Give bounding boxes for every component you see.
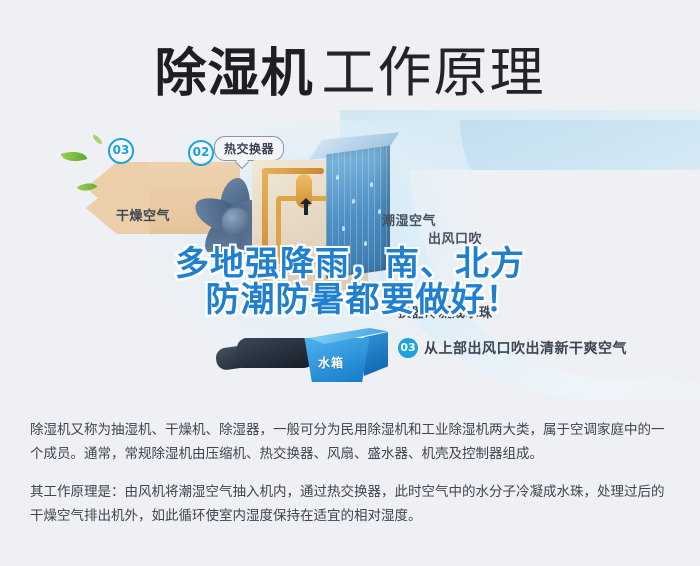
heat-exchanger-callout: 热交换器	[214, 136, 284, 161]
diagram-illustration: 干燥空气 03 02 01 热交换器	[0, 110, 700, 400]
page-title: 除湿机工作原理	[0, 28, 700, 107]
badge-02: 02	[188, 140, 214, 166]
leaf-icon	[91, 134, 104, 144]
air-outlet-label: 出风口吹	[428, 228, 482, 247]
article-body: 除湿机又称为抽湿机、干燥机、除湿器，一般可分为民用除湿机和工业除湿机两大类，属于…	[30, 418, 670, 528]
step-03-row: 03 从上部出风口吹出清新干爽空气	[398, 338, 627, 358]
body-paragraph-1: 除湿机又称为抽湿机、干燥机、除湿器，一般可分为民用除湿机和工业除湿机两大类，属于…	[30, 418, 670, 466]
condensation-label: 换器冷凝成水珠	[398, 302, 493, 321]
page-root: 除湿机工作原理 干燥空气 03 02 01 热交换器	[0, 0, 700, 566]
airflow-arrow-up	[300, 202, 313, 215]
water-tank-label: 水箱	[318, 354, 344, 371]
step-03-badge: 03	[398, 338, 418, 358]
leaf-icon	[61, 147, 88, 167]
compressor-pipe	[262, 168, 324, 174]
badge-03: 03	[108, 138, 134, 164]
water-tank: 水箱	[300, 328, 388, 382]
title-part-light: 工作原理	[322, 43, 546, 103]
body-paragraph-2: 其工作原理是：由风机将潮湿空气抽入机内，通过热交换器，此时空气中的水分子冷凝成水…	[30, 480, 670, 528]
heat-exchanger-block	[326, 146, 390, 279]
humid-air-label: 潮湿空气	[382, 210, 436, 229]
title-part-bold: 除湿机	[154, 44, 313, 104]
compressor-pipe	[262, 168, 268, 280]
dry-air-label: 干燥空气	[116, 205, 170, 224]
step-03-text: 从上部出风口吹出清新干爽空气	[424, 338, 627, 358]
fan-hub	[220, 206, 252, 238]
